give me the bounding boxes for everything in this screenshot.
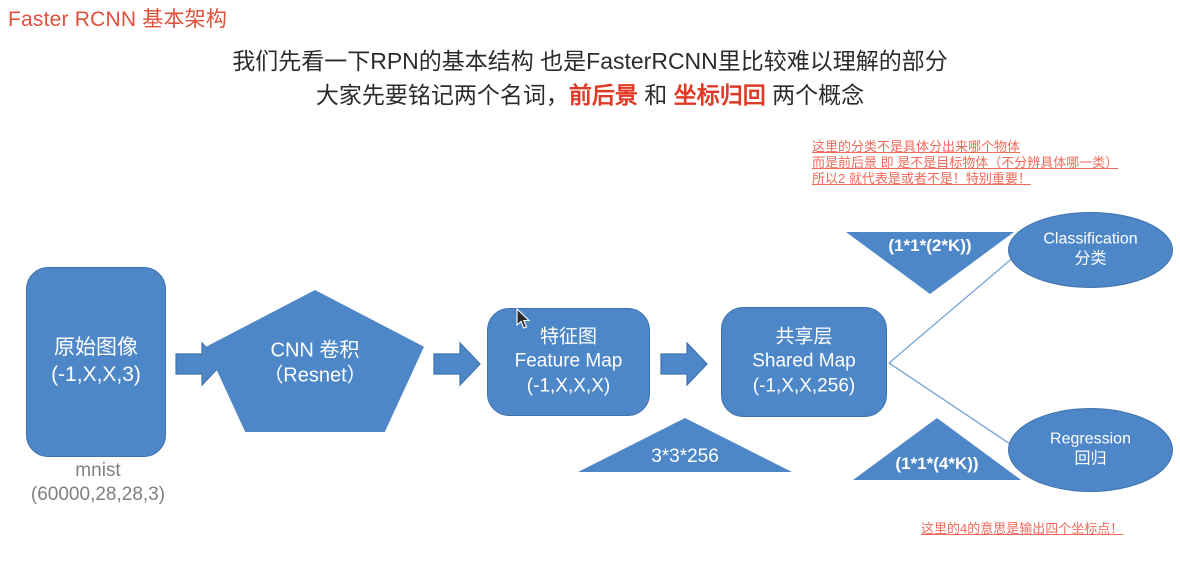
shape-regression-text: Regression 回归 <box>1009 430 1172 471</box>
caption-mnist-line-1: mnist <box>0 459 196 483</box>
annotation-regression-note: 这里的4的意思是输出四个坐标点！ <box>921 521 1123 537</box>
shape-conv-reg-1x1-4k-fill <box>853 418 1021 480</box>
shape-conv-3x3-256-fill <box>578 418 792 472</box>
shape-classification[interactable]: Classification 分类 <box>1008 212 1173 288</box>
shape-feature-map-line-2: Feature Map <box>488 350 649 374</box>
shape-shared-map-line-1: 共享层 <box>722 326 886 350</box>
shape-conv-cls-1x1-2k-fill <box>846 232 1014 294</box>
subtitle-line-2-text-c: 两个概念 <box>766 82 864 108</box>
caption-mnist: mnist (60000,28,28,3) <box>0 459 196 507</box>
subtitle-line-2-text-a: 大家先要铭记两个名词， <box>316 82 569 108</box>
shape-regression[interactable]: Regression 回归 <box>1008 408 1173 492</box>
shape-shared-map-line-2: Shared Map <box>722 350 886 374</box>
shape-shared-map-text: 共享层 Shared Map (-1,X,X,256) <box>722 326 886 399</box>
page-title: Faster RCNN 基本架构 <box>8 3 227 33</box>
shape-feature-map-line-1: 特征图 <box>488 326 649 350</box>
annotation-top-line-2: 而是前后景 即 是不是目标物体（不分辨具体哪一类） <box>812 155 1118 171</box>
caption-mnist-line-2: (60000,28,28,3) <box>0 483 196 507</box>
shape-feature-map[interactable]: 特征图 Feature Map (-1,X,X,X) <box>487 308 650 416</box>
shape-classification-text: Classification 分类 <box>1009 230 1172 271</box>
shape-classification-line-1: Classification <box>1009 230 1172 250</box>
shape-conv-cls-1x1-2k[interactable]: (1*1*(2*K)) <box>846 232 1014 294</box>
shape-regression-line-2: 回归 <box>1009 450 1172 470</box>
shape-original-image-text: 原始图像 (-1,X,X,3) <box>27 335 165 389</box>
shape-conv-reg-1x1-4k[interactable]: (1*1*(4*K)) <box>853 418 1021 480</box>
shape-conv-3x3-256[interactable]: 3*3*256 <box>578 418 792 472</box>
shape-original-image[interactable]: 原始图像 (-1,X,X,3) <box>26 267 166 457</box>
subtitle-highlight-coordinate-regression: 坐标归回 <box>674 82 766 108</box>
right-block-arrow-icon-3 <box>659 340 709 388</box>
subtitle-line-2: 大家先要铭记两个名词，前后景 和 坐标归回 两个概念 <box>0 78 1180 112</box>
shape-regression-line-1: Regression <box>1009 430 1172 450</box>
shape-shared-map-line-3: (-1,X,X,256) <box>722 374 886 398</box>
slide-canvas: Faster RCNN 基本架构 我们先看一下RPN的基本结构 也是Faster… <box>0 0 1180 561</box>
shape-cnn-pentagon[interactable]: CNN 卷积 （Resnet） <box>206 290 424 432</box>
annotation-bottom-line-1: 这里的4的意思是输出四个坐标点！ <box>921 521 1123 537</box>
mouse-pointer-icon <box>516 308 532 330</box>
shape-classification-line-2: 分类 <box>1009 250 1172 270</box>
subtitle-line-1: 我们先看一下RPN的基本结构 也是FasterRCNN里比较难以理解的部分 <box>0 44 1180 78</box>
subtitle-highlight-foreground-background: 前后景 <box>569 82 638 108</box>
shape-feature-map-text: 特征图 Feature Map (-1,X,X,X) <box>488 326 649 399</box>
right-block-arrow-icon-2 <box>432 340 482 388</box>
subtitle-block: 我们先看一下RPN的基本结构 也是FasterRCNN里比较难以理解的部分 大家… <box>0 44 1180 112</box>
annotation-top-line-3: 所以2 就代表是或者不是！特别重要！ <box>812 171 1118 187</box>
shape-feature-map-line-3: (-1,X,X,X) <box>488 374 649 398</box>
shape-shared-map[interactable]: 共享层 Shared Map (-1,X,X,256) <box>721 307 887 417</box>
shape-cnn-pentagon-fill <box>206 290 424 432</box>
annotation-top-line-1: 这里的分类不是具体分出来哪个物体 <box>812 139 1118 155</box>
subtitle-line-2-text-b: 和 <box>638 82 674 108</box>
annotation-classification-note: 这里的分类不是具体分出来哪个物体 而是前后景 即 是不是目标物体（不分辨具体哪一… <box>812 139 1118 187</box>
shape-original-image-line-1: 原始图像 <box>27 335 165 362</box>
shape-original-image-line-2: (-1,X,X,3) <box>27 362 165 389</box>
